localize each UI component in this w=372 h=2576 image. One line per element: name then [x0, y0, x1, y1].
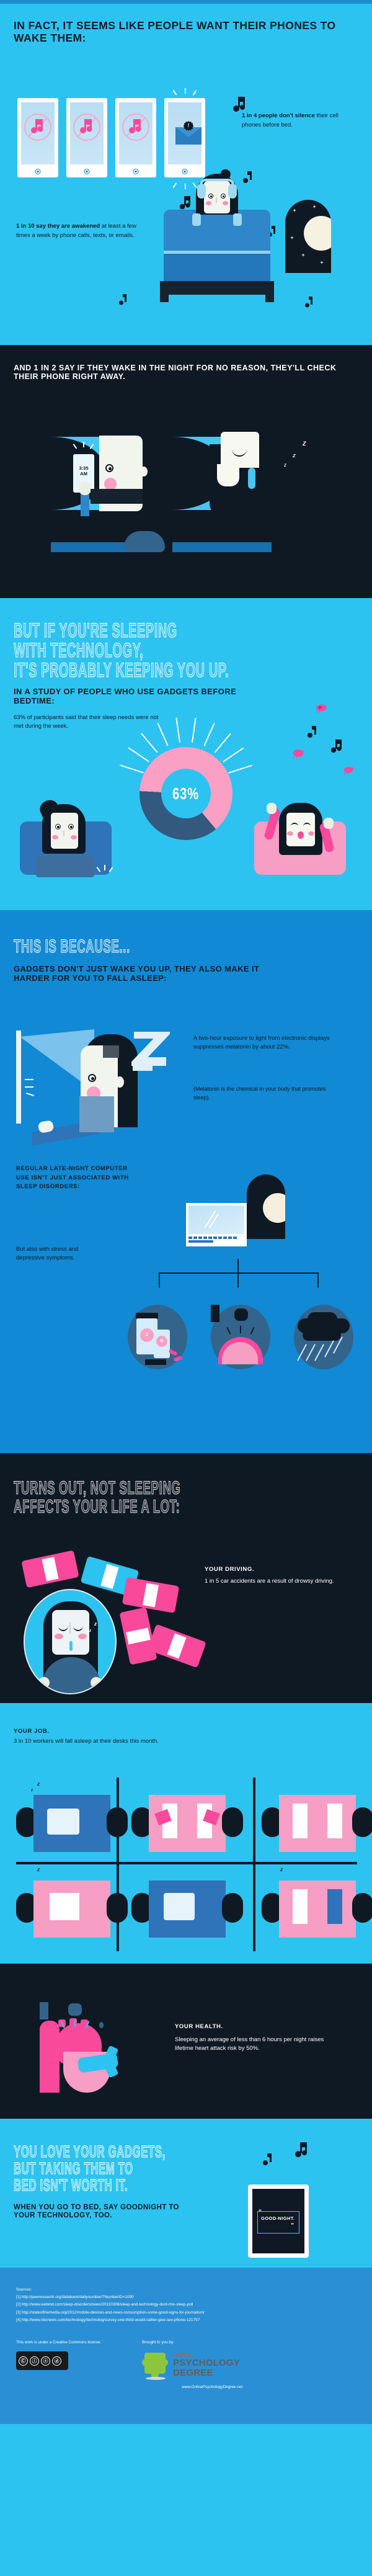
- bird-icon: [342, 766, 355, 779]
- star-icon: [301, 253, 305, 257]
- zzz-icon: z: [37, 1867, 40, 1872]
- section-phones-headline: IN FACT, IT SEEMS LIKE PEOPLE WANT THEIR…: [14, 20, 336, 45]
- chair-icon: [222, 1893, 243, 1923]
- headphone-band-icon: [200, 179, 234, 185]
- brand-line-1: PSYCHOLOGY: [173, 2358, 240, 2368]
- desk-surface: [149, 1795, 226, 1852]
- ear: [115, 1076, 124, 1088]
- star-icon: [293, 208, 296, 212]
- phone-screen: [70, 102, 104, 164]
- music-note-icon: [243, 171, 252, 187]
- outline-headline-line-1: BUT IF YOU'RE SLEEPING: [14, 620, 228, 640]
- chair-icon: [107, 1807, 128, 1837]
- heart-illustration: [40, 2002, 125, 2095]
- late-night-body: But also with stress and depressive symp…: [16, 1245, 97, 1263]
- z-letter-icon: [131, 1032, 170, 1088]
- rain-icon: [314, 1344, 324, 1361]
- source-link[interactable]: [2] http://www.webmd.com/sleep-disorders…: [16, 2301, 356, 2309]
- source-link[interactable]: [3] http://stateofthemedia.org/2012/mobi…: [16, 2309, 356, 2317]
- laptop-night-illustration: [186, 1177, 304, 1264]
- tired-person-illustration: [15, 797, 114, 896]
- sleeping-person-illustration: [210, 432, 260, 516]
- cc-glyph: ⓘ: [30, 2356, 39, 2366]
- stat-one-in-four-bold: 1 in 4 people don't silence: [242, 112, 315, 119]
- closed-eye-icon: [291, 823, 298, 827]
- phone-screen: [21, 102, 55, 164]
- desk-cell: [131, 1786, 243, 1861]
- window-night-icon: [247, 1174, 285, 1239]
- star-icon: [290, 236, 294, 239]
- section-night-check-headline: AND 1 IN 2 SAY IF THEY WAKE IN THE NIGHT…: [14, 364, 352, 382]
- footer: Sources: [1] http://pewresearch.org/data…: [0, 2268, 372, 2424]
- star-icon: [211, 1313, 219, 1322]
- sparkle-icon: [73, 442, 94, 450]
- music-note-icon: [119, 294, 126, 308]
- moon-icon: [263, 1193, 285, 1223]
- zzz-icon: Z: [293, 453, 296, 458]
- night-scene: 3:35AM Z Z: [0, 419, 372, 598]
- drool-icon: [69, 1641, 73, 1651]
- outline-headline-line-3: IT'S PROBABLY KEEPING YOU UP.: [14, 660, 228, 680]
- pill-bottle-icon: M: [154, 1330, 170, 1358]
- music-note-icon: [305, 297, 312, 311]
- phone-screen: !: [168, 102, 201, 164]
- star-icon: [40, 2002, 48, 2011]
- zzz-icon: z: [94, 1621, 97, 1627]
- cloud-icon: [234, 1308, 248, 1321]
- your-driving-label: YOUR DRIVING.: [205, 1566, 254, 1573]
- rain-cloud-icon-circle: [294, 1305, 353, 1369]
- rested-person-illustration: [250, 797, 350, 896]
- tablet-goodnight[interactable]: “ GOOD-NIGHT. ”: [248, 2185, 309, 2258]
- window-night-illustration: [285, 200, 331, 273]
- outline-headline-line-2: AFFECTS YOUR LIFE A LOT:: [14, 1498, 228, 1516]
- study-body: 63% of participants said that their slee…: [14, 713, 162, 731]
- eye-icon: [221, 194, 226, 199]
- closed-eye-icon: [303, 823, 311, 827]
- stat-one-in-ten: 1 in 10 say they are awakened at least a…: [16, 222, 140, 240]
- drowsy-driver-illustration: z z z: [24, 1589, 117, 1694]
- study-subhead: IN A STUDY OF PEOPLE WHO USE GADGETS BEF…: [14, 687, 274, 706]
- rain-icon: [324, 1340, 334, 1357]
- your-job-label: YOUR JOB.: [14, 1728, 358, 1735]
- hand: [79, 481, 91, 495]
- desk-surface: [279, 1795, 356, 1852]
- sparkle-icon: [97, 865, 113, 874]
- sparkle-icon: [25, 1075, 46, 1096]
- phone-row: !: [17, 98, 205, 177]
- cc-glyph: ⓓ: [52, 2356, 61, 2366]
- pill-bottle-icon-circle: Z M: [128, 1305, 187, 1369]
- zzz-icon: z: [37, 1781, 40, 1787]
- face: [204, 181, 230, 213]
- section-this-is-because: THIS IS BECAUSE... GADGETS DON'T JUST WA…: [0, 910, 372, 1453]
- desk-cell: [131, 1872, 243, 1946]
- person-in-bed-illustration: [191, 174, 243, 231]
- headphone-cup-icon: [228, 184, 237, 199]
- phone-ringing: !: [164, 98, 205, 177]
- section-your-health: YOUR HEALTH. Sleeping an average of less…: [0, 1964, 372, 2119]
- outline-headline-line-1: YOU LOVE YOUR GADGETS,: [14, 2144, 228, 2160]
- desk-surface: [279, 1881, 356, 1938]
- zzz-icon: z: [89, 1629, 91, 1633]
- zzz-icon: Z: [284, 464, 286, 468]
- chair-icon: [352, 1807, 372, 1837]
- no-music-icon: [73, 114, 100, 141]
- creative-commons-icon: Ⓒ ⓘ ⓢ ⓓ: [16, 2351, 68, 2370]
- desk-cell: z: [16, 1872, 128, 1946]
- phone-silenced-2: [66, 98, 107, 177]
- rain-icon: [306, 1344, 316, 1361]
- car-crash-illustration: z z z: [19, 1555, 192, 1692]
- star-icon: [40, 2011, 48, 2019]
- laptop-icon: [186, 1203, 247, 1246]
- pill-bottle-label: M: [156, 1336, 167, 1347]
- zzz-icon: z: [86, 1636, 87, 1640]
- brand-line-2: DEGREE: [173, 2368, 240, 2378]
- your-health-body: Sleeping an average of less than 6 hours…: [175, 2036, 330, 2054]
- music-note-icon: [263, 2153, 272, 2169]
- phone-silenced-3: [115, 98, 156, 177]
- bird-icon: [315, 704, 327, 717]
- zzz-icon: z: [280, 1867, 283, 1872]
- section-closing: YOU LOVE YOUR GADGETS, BUT TAKING THEM T…: [0, 2119, 372, 2268]
- drool-icon: [248, 468, 255, 489]
- desk-cell: z: [262, 1872, 372, 1946]
- eye-icon: [88, 1074, 96, 1082]
- donut-value: 63%: [173, 784, 200, 803]
- rain-icon: [297, 1344, 307, 1361]
- blanket-left: [91, 489, 143, 504]
- music-note-icon: [295, 2142, 308, 2162]
- star-icon: [312, 205, 316, 208]
- gadgets-subhead: GADGETS DON'T JUST WAKE YOU UP, THEY ALS…: [14, 965, 280, 983]
- brain-stress-icon-circle: [211, 1305, 270, 1369]
- eye-icon: [208, 194, 213, 199]
- sources-label: Sources:: [16, 2286, 356, 2294]
- tablet-screen: “ GOOD-NIGHT. ”: [252, 2189, 304, 2253]
- puzzle-piece-icon: [142, 2350, 169, 2380]
- monitor-base: [79, 1096, 114, 1132]
- bird-icon: [291, 748, 305, 763]
- music-note-icon: [331, 740, 342, 758]
- clock-meridiem: AM: [80, 471, 87, 476]
- cat-illustration: [124, 531, 165, 552]
- cubicle-divider: [16, 1862, 357, 1864]
- source-link[interactable]: [1] http://pewresearch.org/databank/dail…: [16, 2294, 356, 2301]
- melatonin-note-text: (Melatonin is the chemical in your body …: [193, 1085, 342, 1102]
- eye-icon: [55, 824, 61, 830]
- star-icon: [320, 261, 324, 264]
- cubicle-divider: [253, 1778, 255, 1951]
- your-health-label: YOUR HEALTH.: [175, 2023, 223, 2030]
- cc-glyph: Ⓒ: [19, 2356, 28, 2366]
- zzz-icon: z: [31, 1789, 33, 1792]
- home-button-icon: [35, 169, 41, 174]
- section-affects-life: TURNS OUT, NOT SLEEPING AFFECTS YOUR LIF…: [0, 1453, 372, 1703]
- section-night-check: AND 1 IN 2 SAY IF THEY WAKE IN THE NIGHT…: [0, 345, 372, 598]
- quote-close-icon: ”: [291, 2222, 294, 2229]
- goodnight-text: GOOD-NIGHT.: [258, 2212, 299, 2221]
- brand-block: Brought to you by: online PSYCHOLOGY DEG…: [142, 2339, 242, 2389]
- cloud-icon: [68, 2003, 82, 2016]
- infographic-page: IN FACT, IT SEEMS LIKE PEOPLE WANT THEIR…: [0, 0, 372, 2424]
- phone-screen: [119, 102, 153, 164]
- desk-surface: [33, 1795, 110, 1852]
- your-job-body: 3 in 10 workers will fall asleep at thei…: [14, 1737, 193, 1746]
- ear: [140, 467, 148, 476]
- section-phones: IN FACT, IT SEEMS LIKE PEOPLE WANT THEIR…: [0, 4, 372, 345]
- eye-icon: [68, 824, 74, 830]
- closed-eye-icon: [58, 1626, 68, 1631]
- late-night-label: REGULAR LATE-NIGHT COMPUTER USE ISN'T JU…: [16, 1165, 140, 1192]
- sparkle-top-icon: [173, 88, 198, 97]
- section-your-job: YOUR JOB. 3 in 10 workers will fall asle…: [0, 1703, 372, 1964]
- stat-one-in-ten-bold: 1 in 10 say they are awakened: [16, 223, 100, 230]
- license-block: This work is under a Creative Commons li…: [16, 2339, 101, 2389]
- desk-cell: [262, 1786, 372, 1861]
- no-music-icon: [122, 114, 149, 141]
- car-icon: [147, 1624, 206, 1668]
- license-text: This work is under a Creative Commons li…: [16, 2339, 101, 2346]
- closed-eye-icon: [73, 1626, 83, 1631]
- connector-tree: [155, 1259, 322, 1302]
- your-driving-body: 1 in 5 car accidents are a result of dro…: [205, 1577, 341, 1586]
- cheek: [104, 478, 117, 490]
- desk-surface: [33, 1881, 110, 1938]
- headphone-cup-icon: [197, 184, 206, 199]
- desk-surface: [149, 1881, 226, 1938]
- chair-icon: [107, 1893, 128, 1923]
- brought-by-text: Brought to you by:: [142, 2339, 242, 2346]
- bed-illustration: [164, 210, 270, 295]
- website-url[interactable]: www.OnlinePsychologyDegree.net: [142, 2385, 242, 2389]
- office-desk-grid: z z: [16, 1778, 357, 1951]
- chair-icon: [352, 1893, 372, 1923]
- zzz-icon: Z: [303, 441, 306, 447]
- stat-one-in-four: 1 in 4 people don't silence their cell p…: [242, 112, 356, 130]
- outline-headline: THIS IS BECAUSE...: [14, 937, 228, 956]
- clock-time: 3:35: [79, 465, 88, 471]
- no-music-icon: [24, 114, 51, 141]
- car-icon: [21, 1550, 79, 1588]
- home-button-icon: [182, 169, 188, 174]
- outline-headline-line-2: BUT TAKING THEM TO: [14, 2160, 228, 2177]
- home-button-icon: [133, 169, 139, 174]
- brand-logo: online PSYCHOLOGY DEGREE: [142, 2350, 242, 2380]
- moon-icon: [304, 216, 331, 251]
- star-icon: [211, 1305, 219, 1313]
- desk-cell: z z: [16, 1786, 128, 1861]
- outline-headline-line-2: WITH TECHNOLOGY,: [14, 640, 228, 660]
- eye-icon: [105, 464, 113, 472]
- laptop-icon: [36, 856, 94, 877]
- donut-chart-63: 63%: [139, 747, 232, 840]
- outline-headline-line-3: BED ISN'T WORTH IT.: [14, 2177, 228, 2194]
- source-link[interactable]: [4] http://www.nbcnews.com/technology/te…: [16, 2317, 356, 2324]
- closing-subhead: WHEN YOU GO TO BED, SAY GOODNIGHT TO YOU…: [14, 2204, 200, 2220]
- home-button-icon: [84, 169, 90, 174]
- open-mouth-icon: [298, 831, 304, 839]
- car-icon: [122, 1577, 179, 1613]
- section-sleeping-with-tech: BUT IF YOU'RE SLEEPING WITH TECHNOLOGY, …: [0, 598, 372, 910]
- cc-glyph: ⓢ: [41, 2356, 50, 2366]
- outline-headline-line-1: TURNS OUT, NOT SLEEPING: [14, 1479, 228, 1498]
- melatonin-main-text: A two-hour exposure to light from electr…: [193, 1034, 348, 1052]
- phone-silenced-1: [17, 98, 58, 177]
- floor: [0, 552, 372, 598]
- chair-icon: [222, 1807, 243, 1837]
- music-note-icon: [308, 726, 316, 741]
- pill-bottle-label: Z: [140, 1328, 154, 1342]
